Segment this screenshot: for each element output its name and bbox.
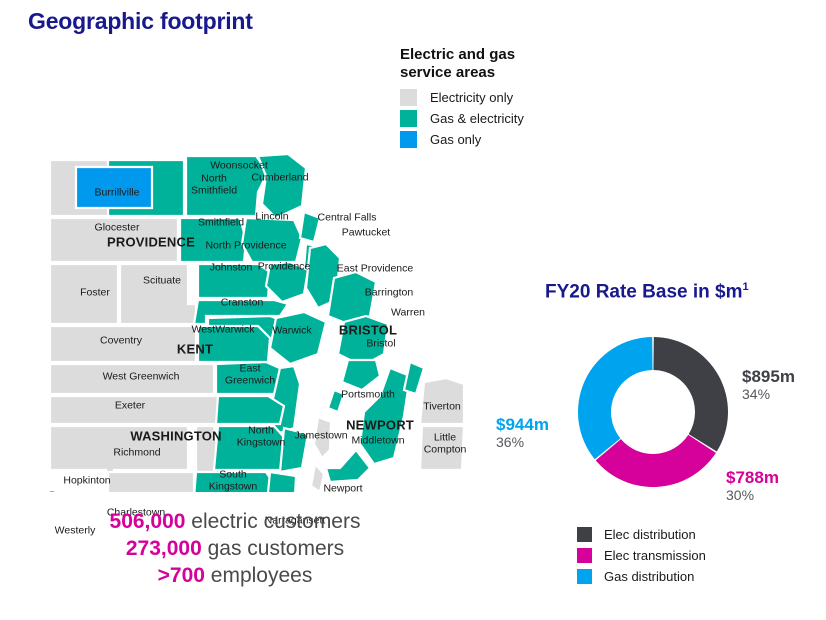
stat-number: 273,000 <box>126 537 202 560</box>
stat-text: gas customers <box>202 537 344 560</box>
stat-number: >700 <box>158 564 205 587</box>
chart-legend: Elec distributionElec transmissionGas di… <box>577 527 706 590</box>
legend-swatch <box>400 131 417 148</box>
donut-value-amount: $895m <box>742 367 795 386</box>
page-title: Geographic footprint <box>28 8 253 35</box>
legend-swatch <box>577 569 592 584</box>
chart-title: FY20 Rate Base in $m1 <box>545 281 749 303</box>
stat-text: employees <box>205 564 312 587</box>
legend-swatch <box>577 548 592 563</box>
map-legend-title-line2: service areas <box>400 64 590 82</box>
donut-value-label: $788m30% <box>726 468 779 504</box>
donut-segment[interactable] <box>578 337 653 459</box>
map-legend-item: Gas only <box>400 131 590 148</box>
donut-value-amount: $944m <box>496 415 549 434</box>
donut-segment[interactable] <box>653 337 728 452</box>
map-legend-title: Electric and gas service areas <box>400 46 590 82</box>
stat-line: >700 employees <box>0 562 470 589</box>
chart-legend-item: Elec transmission <box>577 548 706 563</box>
stat-number: 506,000 <box>110 510 186 533</box>
donut-value-percent: 30% <box>726 487 779 504</box>
legend-label: Gas only <box>430 132 481 147</box>
legend-swatch <box>400 89 417 106</box>
stat-text: electric customers <box>185 510 360 533</box>
legend-label: Electricity only <box>430 90 513 105</box>
chart-legend-item: Elec distribution <box>577 527 706 542</box>
rate-base-donut-chart: $895m34%$788m30%$944m36% <box>490 305 826 515</box>
map-gas-only-regions <box>76 167 152 208</box>
chart-title-text: FY20 Rate Base in $m <box>545 281 742 302</box>
legend-swatch <box>577 527 592 542</box>
legend-label: Elec transmission <box>604 548 706 563</box>
map-legend-item: Electricity only <box>400 89 590 106</box>
map-legend-title-line1: Electric and gas <box>400 46 590 64</box>
stat-line: 506,000 electric customers <box>0 508 470 535</box>
stat-line: 273,000 gas customers <box>0 535 470 562</box>
map-legend-item: Gas & electricity <box>400 110 590 127</box>
donut-value-label: $944m36% <box>496 415 549 451</box>
slide-root: Geographic footprint <box>0 0 826 620</box>
chart-legend-item: Gas distribution <box>577 569 706 584</box>
donut-value-percent: 36% <box>496 434 549 451</box>
donut-value-label: $895m34% <box>742 367 795 403</box>
legend-label: Gas & electricity <box>430 111 524 126</box>
legend-label: Gas distribution <box>604 569 694 584</box>
legend-label: Elec distribution <box>604 527 696 542</box>
map-legend-items: Electricity onlyGas & electricityGas onl… <box>400 89 590 148</box>
customer-stats: 506,000 electric customers273,000 gas cu… <box>0 508 470 589</box>
donut-value-percent: 34% <box>742 386 795 403</box>
map-legend: Electric and gas service areas Electrici… <box>400 46 590 152</box>
donut-value-amount: $788m <box>726 468 779 487</box>
legend-swatch <box>400 110 417 127</box>
chart-title-footnote-marker: 1 <box>742 281 748 293</box>
donut-segments <box>578 337 728 487</box>
